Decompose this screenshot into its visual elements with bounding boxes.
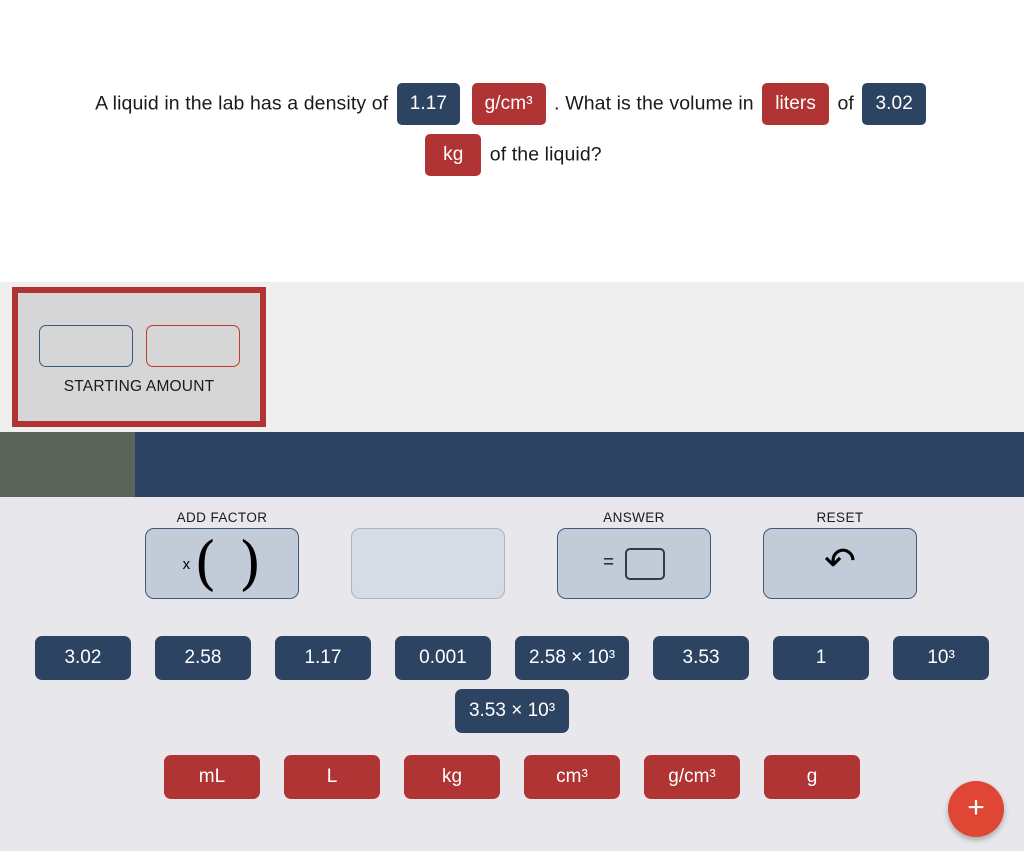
number-tiles-row-2: 3.53 × 10³ [0, 689, 1024, 733]
answer-tool: ANSWER = [557, 528, 711, 599]
reset-tool: RESET ↶ [763, 528, 917, 599]
reset-label: RESET [763, 510, 917, 525]
number-tile-6[interactable]: 1 [773, 636, 869, 680]
unit-tile-3[interactable]: cm³ [524, 755, 620, 799]
secondary-button-disabled [351, 528, 505, 599]
number-tile-5[interactable]: 3.53 [653, 636, 749, 680]
question-tile-density-value: 1.17 [397, 83, 460, 125]
question-tile-mass-unit: kg [425, 134, 481, 176]
question-panel: A liquid in the lab has a density of 1.1… [0, 0, 1024, 282]
answer-icon: = [603, 548, 665, 580]
number-tile-1[interactable]: 2.58 [155, 636, 251, 680]
add-fab-button[interactable]: + [948, 781, 1004, 837]
add-factor-left-paren: ( [194, 544, 217, 583]
starting-amount-box[interactable]: STARTING AMOUNT [12, 287, 266, 427]
answer-button[interactable]: = [557, 528, 711, 599]
equals-sign: = [603, 552, 614, 574]
number-tile-2[interactable]: 1.17 [275, 636, 371, 680]
progress-bar-segment [0, 432, 135, 497]
unit-tile-5[interactable]: g [764, 755, 860, 799]
question-part-1: A liquid in the lab has a density of [95, 92, 388, 114]
unit-tile-4[interactable]: g/cm³ [644, 755, 740, 799]
unit-tiles-row: mLLkgcm³g/cm³g [0, 755, 1024, 799]
starting-amount-unit-slot[interactable] [146, 325, 240, 367]
plus-icon: + [967, 793, 985, 823]
add-factor-right-paren: ) [239, 544, 262, 583]
starting-amount-slots [39, 325, 240, 367]
starting-amount-label: STARTING AMOUNT [64, 378, 215, 396]
number-tile-4[interactable]: 2.58 × 10³ [515, 636, 629, 680]
question-part-2: . What is the volume in [554, 92, 754, 114]
add-factor-icon: x ( ) [183, 544, 262, 583]
progress-bar [0, 432, 1024, 497]
reset-button[interactable]: ↶ [763, 528, 917, 599]
add-factor-multiply-symbol: x [183, 556, 191, 573]
add-factor-label: ADD FACTOR [145, 510, 299, 525]
number-tile-7[interactable]: 10³ [893, 636, 989, 680]
secondary-tool [351, 528, 505, 599]
answer-label: ANSWER [557, 510, 711, 525]
answer-slot[interactable] [625, 548, 665, 580]
tile-tray: ADD FACTOR x ( ) ANSWER = [0, 497, 1024, 851]
question-tile-mass-value: 3.02 [862, 83, 925, 125]
question-tile-density-unit: g/cm³ [472, 83, 546, 125]
question-text: A liquid in the lab has a density of 1.1… [86, 78, 938, 181]
toolbar: ADD FACTOR x ( ) ANSWER = [145, 508, 945, 608]
undo-arrow-icon: ↶ [824, 543, 856, 581]
number-tile-3[interactable]: 0.001 [395, 636, 491, 680]
question-part-4: of the liquid? [490, 144, 602, 166]
add-factor-tool: ADD FACTOR x ( ) [145, 528, 299, 599]
starting-amount-value-slot[interactable] [39, 325, 133, 367]
number-tile-wrap-0[interactable]: 3.53 × 10³ [455, 689, 569, 733]
number-tile-0[interactable]: 3.02 [35, 636, 131, 680]
question-tile-target-unit: liters [762, 83, 829, 125]
number-tiles-row-1: 3.022.581.170.0012.58 × 10³3.53110³ [0, 636, 1024, 680]
unit-tile-1[interactable]: L [284, 755, 380, 799]
work-area: STARTING AMOUNT x ( ) [0, 282, 1024, 432]
question-part-3: of [837, 92, 853, 114]
unit-tile-2[interactable]: kg [404, 755, 500, 799]
unit-tile-0[interactable]: mL [164, 755, 260, 799]
add-factor-button[interactable]: x ( ) [145, 528, 299, 599]
